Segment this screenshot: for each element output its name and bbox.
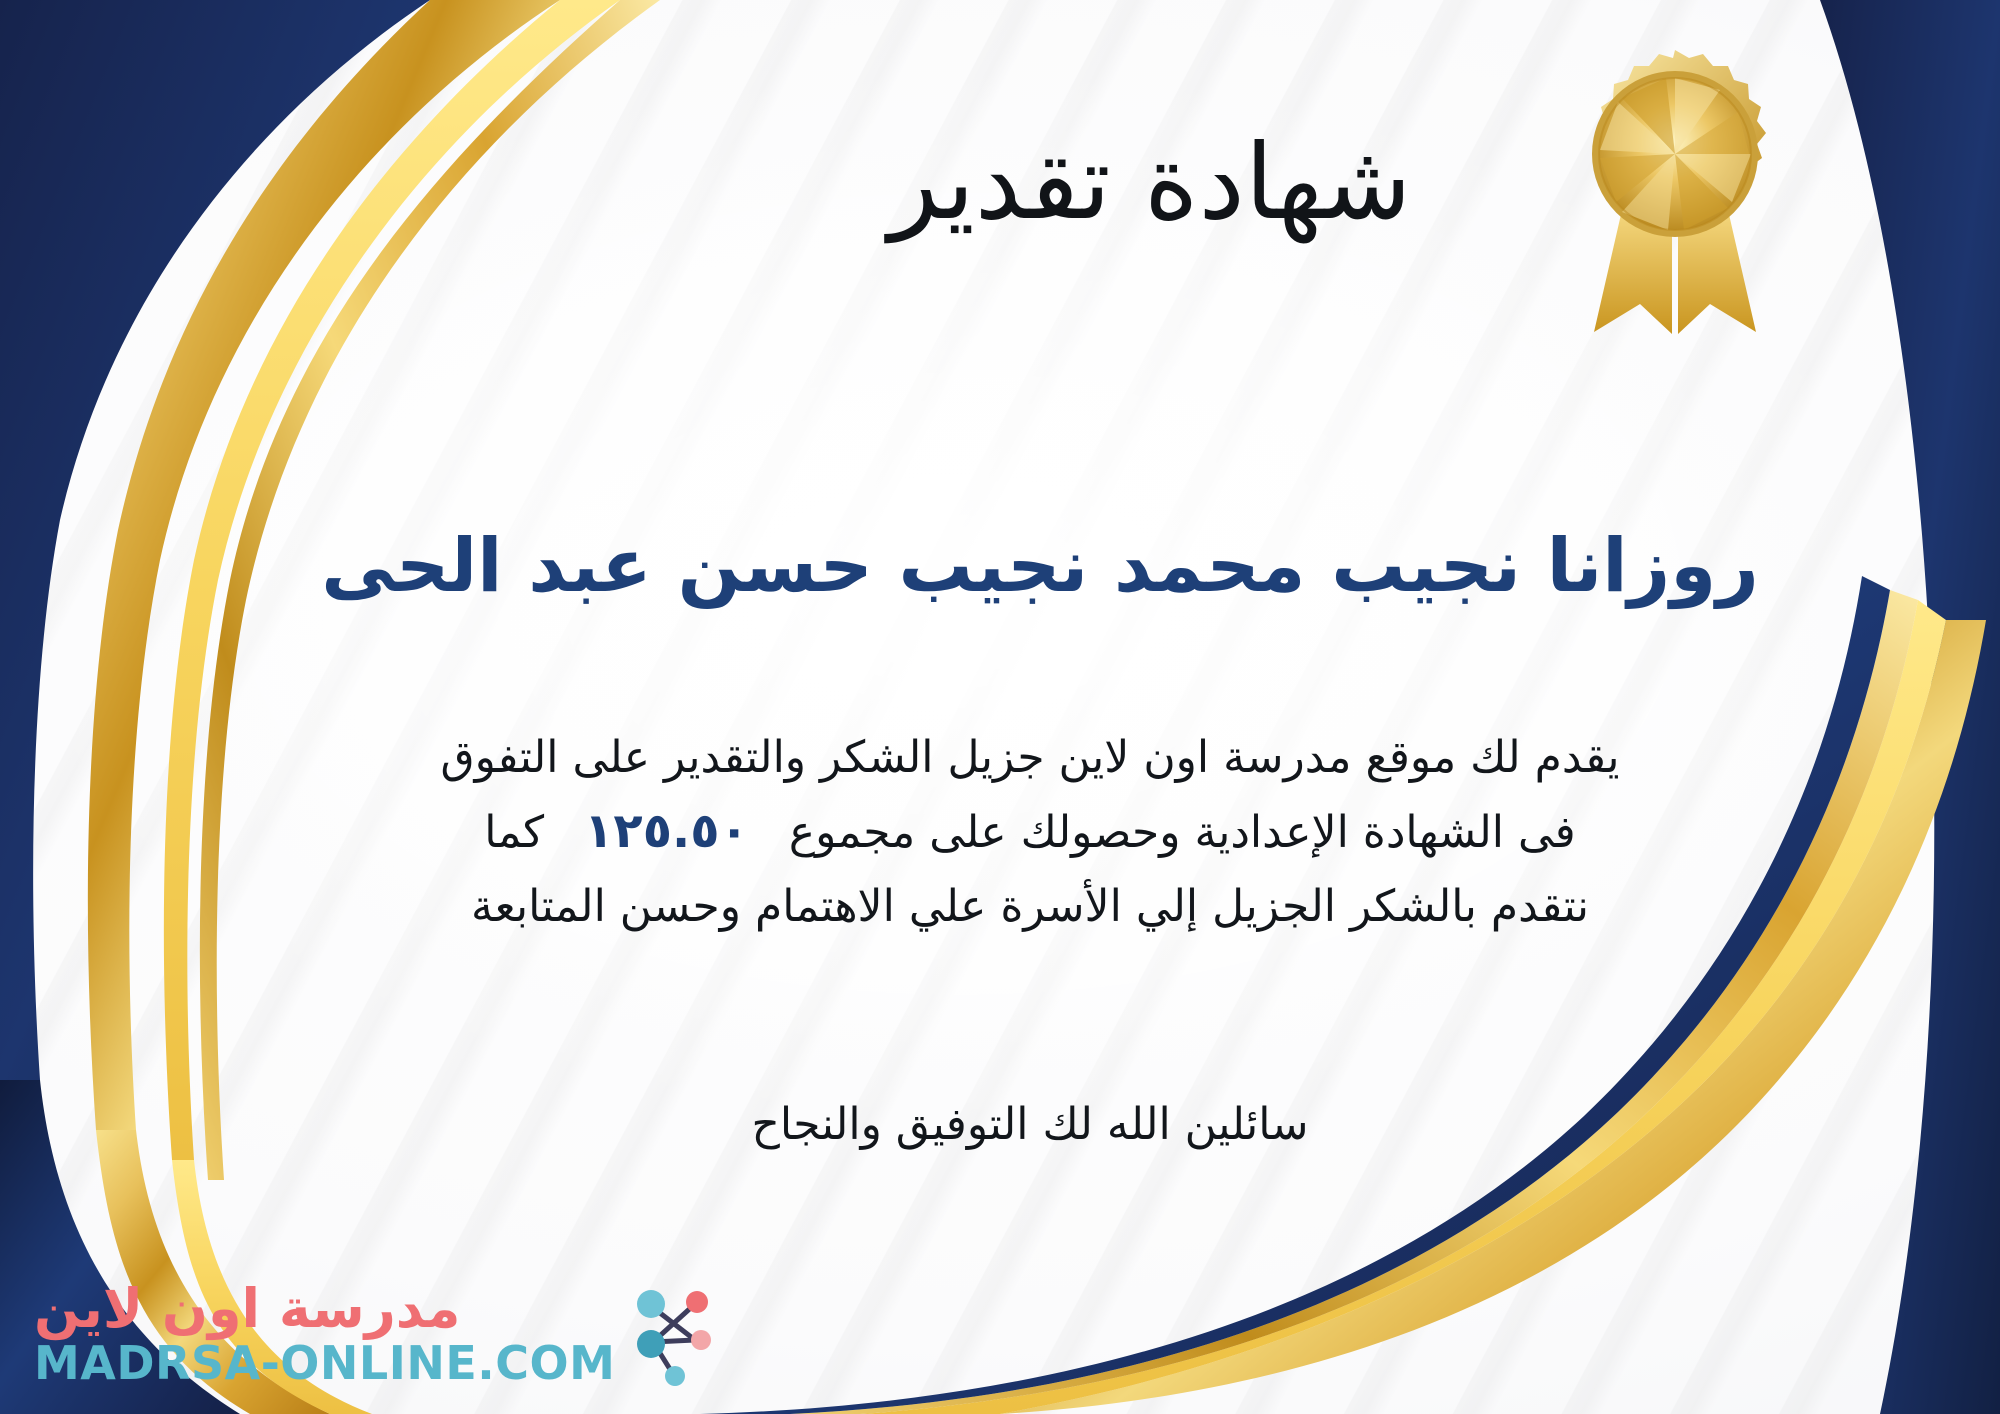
closing-wish-text: سائلين الله لك التوفيق والنجاح xyxy=(210,1092,1850,1158)
brand-text-group: مدرسة اون لاين MADRSA-ONLINE.COM xyxy=(34,1282,615,1386)
body-line-2-prefix: فى الشهادة الإعدادية وحصولك على مجموع xyxy=(789,807,1576,858)
certificate-body: يقدم لك موقع مدرسة اون لاين جزيل الشكر و… xyxy=(210,722,1850,942)
body-line-2: فى الشهادة الإعدادية وحصولك على مجموع ١٢… xyxy=(210,793,1850,871)
student-name: روزانا نجيب محمد نجيب حسن عبد الحى xyxy=(200,522,1880,611)
gold-medal-rosette-icon xyxy=(1560,42,1790,342)
brand-website-url: MADRSA-ONLINE.COM xyxy=(34,1340,615,1386)
certificate-title: شهادة تقدير xyxy=(600,124,1700,240)
network-nodes-icon xyxy=(623,1282,719,1386)
certificate-canvas: شهادة تقدير روزانا نجيب محمد نجيب حسن عب… xyxy=(0,0,2000,1414)
body-line-3: نتقدم بالشكر الجزيل إلي الأسرة علي الاهت… xyxy=(210,871,1850,942)
body-line-2-suffix: كما xyxy=(484,807,544,858)
body-line-1: يقدم لك موقع مدرسة اون لاين جزيل الشكر و… xyxy=(210,722,1850,793)
brand-arabic-name: مدرسة اون لاين xyxy=(34,1282,460,1336)
grade-total-value: ١٢٥.٥٠ xyxy=(558,803,775,859)
brand-logo[interactable]: مدرسة اون لاين MADRSA-ONLINE.COM xyxy=(34,1282,719,1386)
